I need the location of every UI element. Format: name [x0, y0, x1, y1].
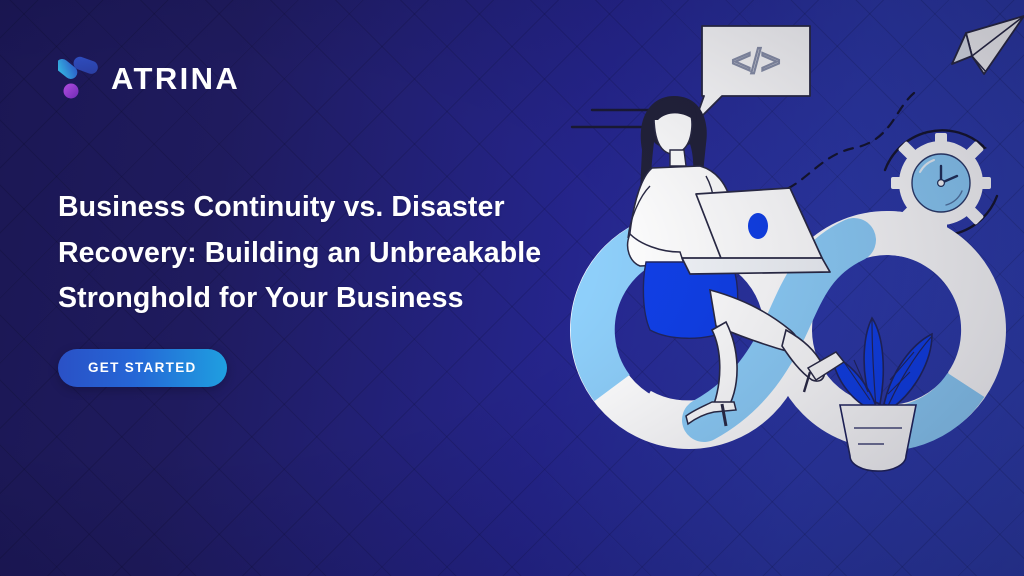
code-speech-bubble-icon: </> — [694, 26, 810, 124]
hero-banner: </> — [0, 0, 1024, 576]
atrina-pill-mark-icon — [58, 55, 100, 101]
page-title: Business Continuity vs. Disaster Recover… — [58, 185, 558, 322]
woman-with-laptop-icon — [628, 96, 844, 426]
brand-logo[interactable]: ATRINA — [58, 55, 240, 101]
paper-plane-icon — [952, 16, 1024, 74]
get-started-button[interactable]: GET STARTED — [58, 349, 227, 387]
brand-name: ATRINA — [111, 63, 240, 94]
code-bubble-text: </> — [731, 43, 780, 81]
business-continuity-illustration: </> — [554, 0, 1024, 576]
hero-copy: Business Continuity vs. Disaster Recover… — [58, 185, 558, 387]
